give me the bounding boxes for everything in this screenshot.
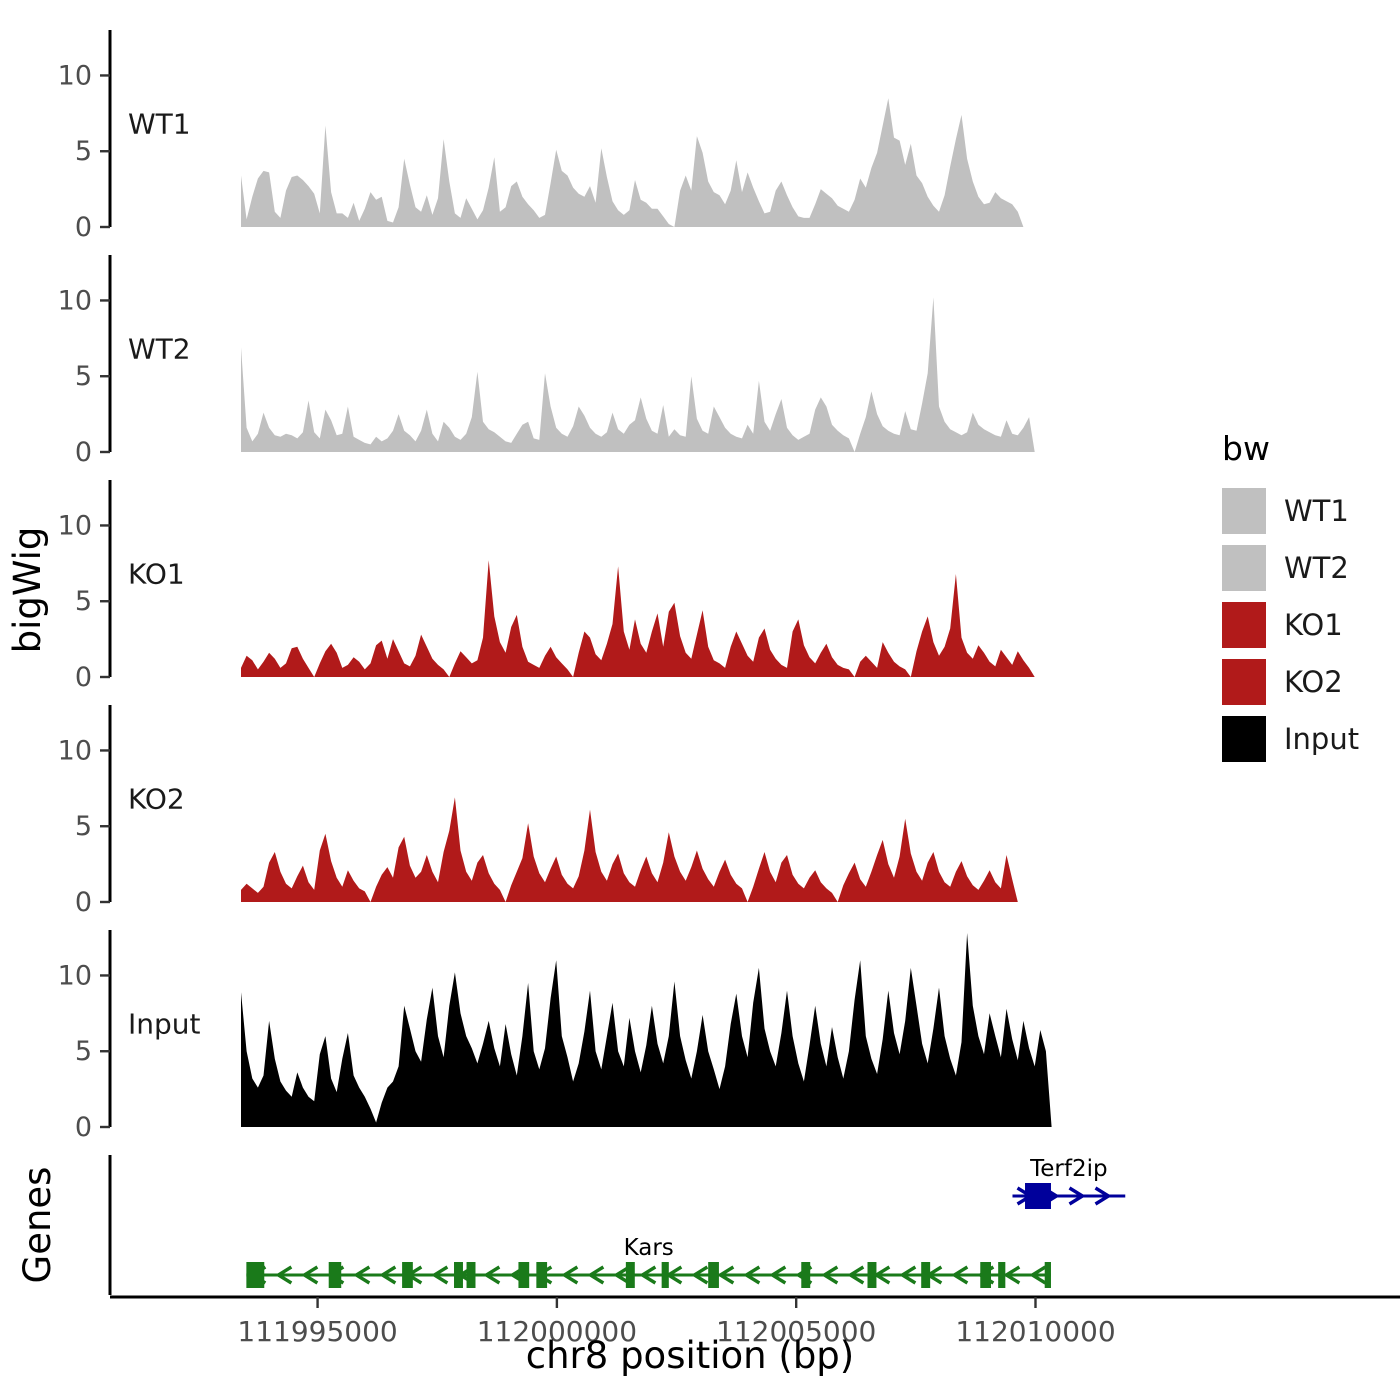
y-tick-label: 10 bbox=[58, 960, 92, 991]
gene-exon bbox=[518, 1262, 529, 1288]
y-tick-label: 0 bbox=[75, 887, 92, 918]
legend-label-wt2: WT2 bbox=[1284, 551, 1349, 585]
gene-exon bbox=[868, 1262, 877, 1288]
panel-label-ko1: KO1 bbox=[128, 558, 185, 591]
gene-label-kars: Kars bbox=[624, 1235, 674, 1261]
genome-browser-figure: 0510WT10510WT20510KO10510KO20510Input Te… bbox=[0, 0, 1400, 1400]
gene-exon bbox=[801, 1262, 810, 1288]
y-tick-label: 5 bbox=[75, 361, 92, 392]
gene-exon bbox=[921, 1262, 930, 1288]
gene-exon bbox=[467, 1262, 476, 1288]
y-tick-label: 0 bbox=[75, 437, 92, 468]
gene-exon bbox=[536, 1262, 547, 1288]
y-tick-label: 5 bbox=[75, 586, 92, 617]
figure-root: 0510WT10510WT20510KO10510KO20510Input Te… bbox=[0, 0, 1400, 1400]
legend-item-input[interactable]: Input bbox=[1222, 716, 1359, 762]
y-tick-label: 0 bbox=[75, 1112, 92, 1143]
gene-exon bbox=[626, 1262, 635, 1288]
legend-swatch-ko1 bbox=[1222, 602, 1266, 648]
gene-exon bbox=[998, 1262, 1005, 1288]
panel-label-wt2: WT2 bbox=[128, 333, 191, 366]
gene-exon bbox=[1025, 1183, 1051, 1209]
y-tick-label: 5 bbox=[75, 1036, 92, 1067]
x-tick-label: 112010000 bbox=[955, 1315, 1115, 1348]
gene-exon bbox=[662, 1262, 669, 1288]
gene-exon bbox=[1045, 1262, 1051, 1288]
gene-exon bbox=[980, 1262, 991, 1288]
y-tick-label: 5 bbox=[75, 811, 92, 842]
legend-label-ko2: KO2 bbox=[1284, 665, 1343, 699]
legend-swatch-wt1 bbox=[1222, 488, 1266, 534]
legend-label-ko1: KO1 bbox=[1284, 608, 1343, 642]
legend-title: bw bbox=[1222, 429, 1270, 468]
panel-label-ko2: KO2 bbox=[128, 783, 185, 816]
y-tick-label: 10 bbox=[58, 285, 92, 316]
legend-item-wt2[interactable]: WT2 bbox=[1222, 545, 1349, 591]
y-tick-label: 10 bbox=[58, 510, 92, 541]
x-tick-label: 111995000 bbox=[237, 1315, 397, 1348]
panel-label-input: Input bbox=[128, 1008, 201, 1041]
legend-label-input: Input bbox=[1284, 722, 1359, 756]
y-tick-label: 10 bbox=[58, 60, 92, 91]
legend-item-wt1[interactable]: WT1 bbox=[1222, 488, 1349, 534]
gene-exon bbox=[329, 1262, 342, 1288]
gene-exon bbox=[246, 1262, 264, 1288]
genes-axis-title: Genes bbox=[16, 1167, 59, 1284]
legend-swatch-wt2 bbox=[1222, 545, 1266, 591]
legend-swatch-ko2 bbox=[1222, 659, 1266, 705]
x-axis-title: chr8 position (bp) bbox=[526, 1334, 854, 1377]
legend-label-wt1: WT1 bbox=[1284, 494, 1349, 528]
y-tick-label: 5 bbox=[75, 136, 92, 167]
gene-exon bbox=[708, 1262, 719, 1288]
y-axis-title: bigWig bbox=[6, 527, 49, 654]
y-tick-label: 10 bbox=[58, 735, 92, 766]
gene-label-terf2ip: Terf2ip bbox=[1029, 1156, 1107, 1182]
gene-exon bbox=[402, 1262, 413, 1288]
y-tick-label: 0 bbox=[75, 662, 92, 693]
gene-exon bbox=[454, 1262, 463, 1288]
panel-label-wt1: WT1 bbox=[128, 108, 191, 141]
y-tick-label: 0 bbox=[75, 212, 92, 243]
legend-swatch-input bbox=[1222, 716, 1266, 762]
